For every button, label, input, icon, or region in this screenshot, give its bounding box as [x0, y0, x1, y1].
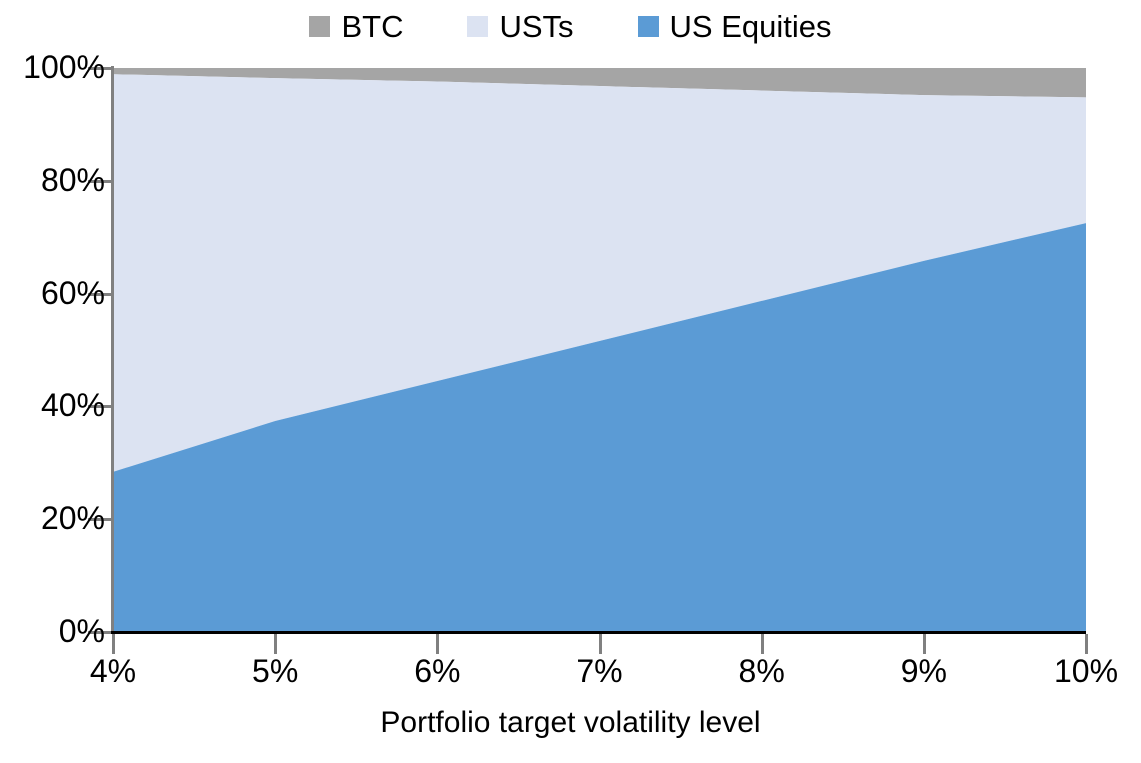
legend-label-usts: USTs [499, 11, 573, 42]
x-tick-mark [436, 634, 439, 654]
x-tick-mark [112, 634, 115, 654]
legend-label-btc: BTC [341, 11, 403, 42]
legend-label-us-equities: US Equities [670, 11, 832, 42]
legend-swatch-usts [467, 16, 488, 37]
x-tick-label: 4% [53, 655, 173, 687]
chart-container: BTC USTs US Equities 0%20%40%60%80%100% … [0, 0, 1141, 763]
x-tick-mark [761, 634, 764, 654]
x-axis-line [88, 631, 1086, 634]
y-tick-label: 60% [41, 277, 105, 309]
x-tick-mark [599, 634, 602, 654]
stacked-area-svg [113, 68, 1086, 632]
legend-swatch-btc [309, 16, 330, 37]
y-tick-label: 0% [59, 615, 105, 647]
x-tick-label: 5% [215, 655, 335, 687]
x-tick-mark [923, 634, 926, 654]
x-axis-title: Portfolio target volatility level [0, 706, 1141, 740]
y-axis-line [111, 66, 114, 634]
x-tick-label: 7% [540, 655, 660, 687]
x-tick-mark [274, 634, 277, 654]
x-tick-label: 9% [864, 655, 984, 687]
y-tick-label: 40% [41, 389, 105, 421]
legend-item-us-equities[interactable]: US Equities [638, 11, 832, 42]
chart-legend: BTC USTs US Equities [0, 6, 1141, 46]
legend-item-usts[interactable]: USTs [467, 11, 573, 42]
y-tick-label: 20% [41, 502, 105, 534]
y-tick-label: 80% [41, 164, 105, 196]
legend-item-btc[interactable]: BTC [309, 11, 403, 42]
plot-area [113, 68, 1086, 632]
x-tick-label: 6% [377, 655, 497, 687]
x-tick-label: 8% [702, 655, 822, 687]
y-tick-label: 100% [23, 51, 105, 83]
x-tick-label: 10% [1026, 655, 1141, 687]
x-tick-mark [1085, 634, 1088, 654]
legend-swatch-us-equities [638, 16, 659, 37]
